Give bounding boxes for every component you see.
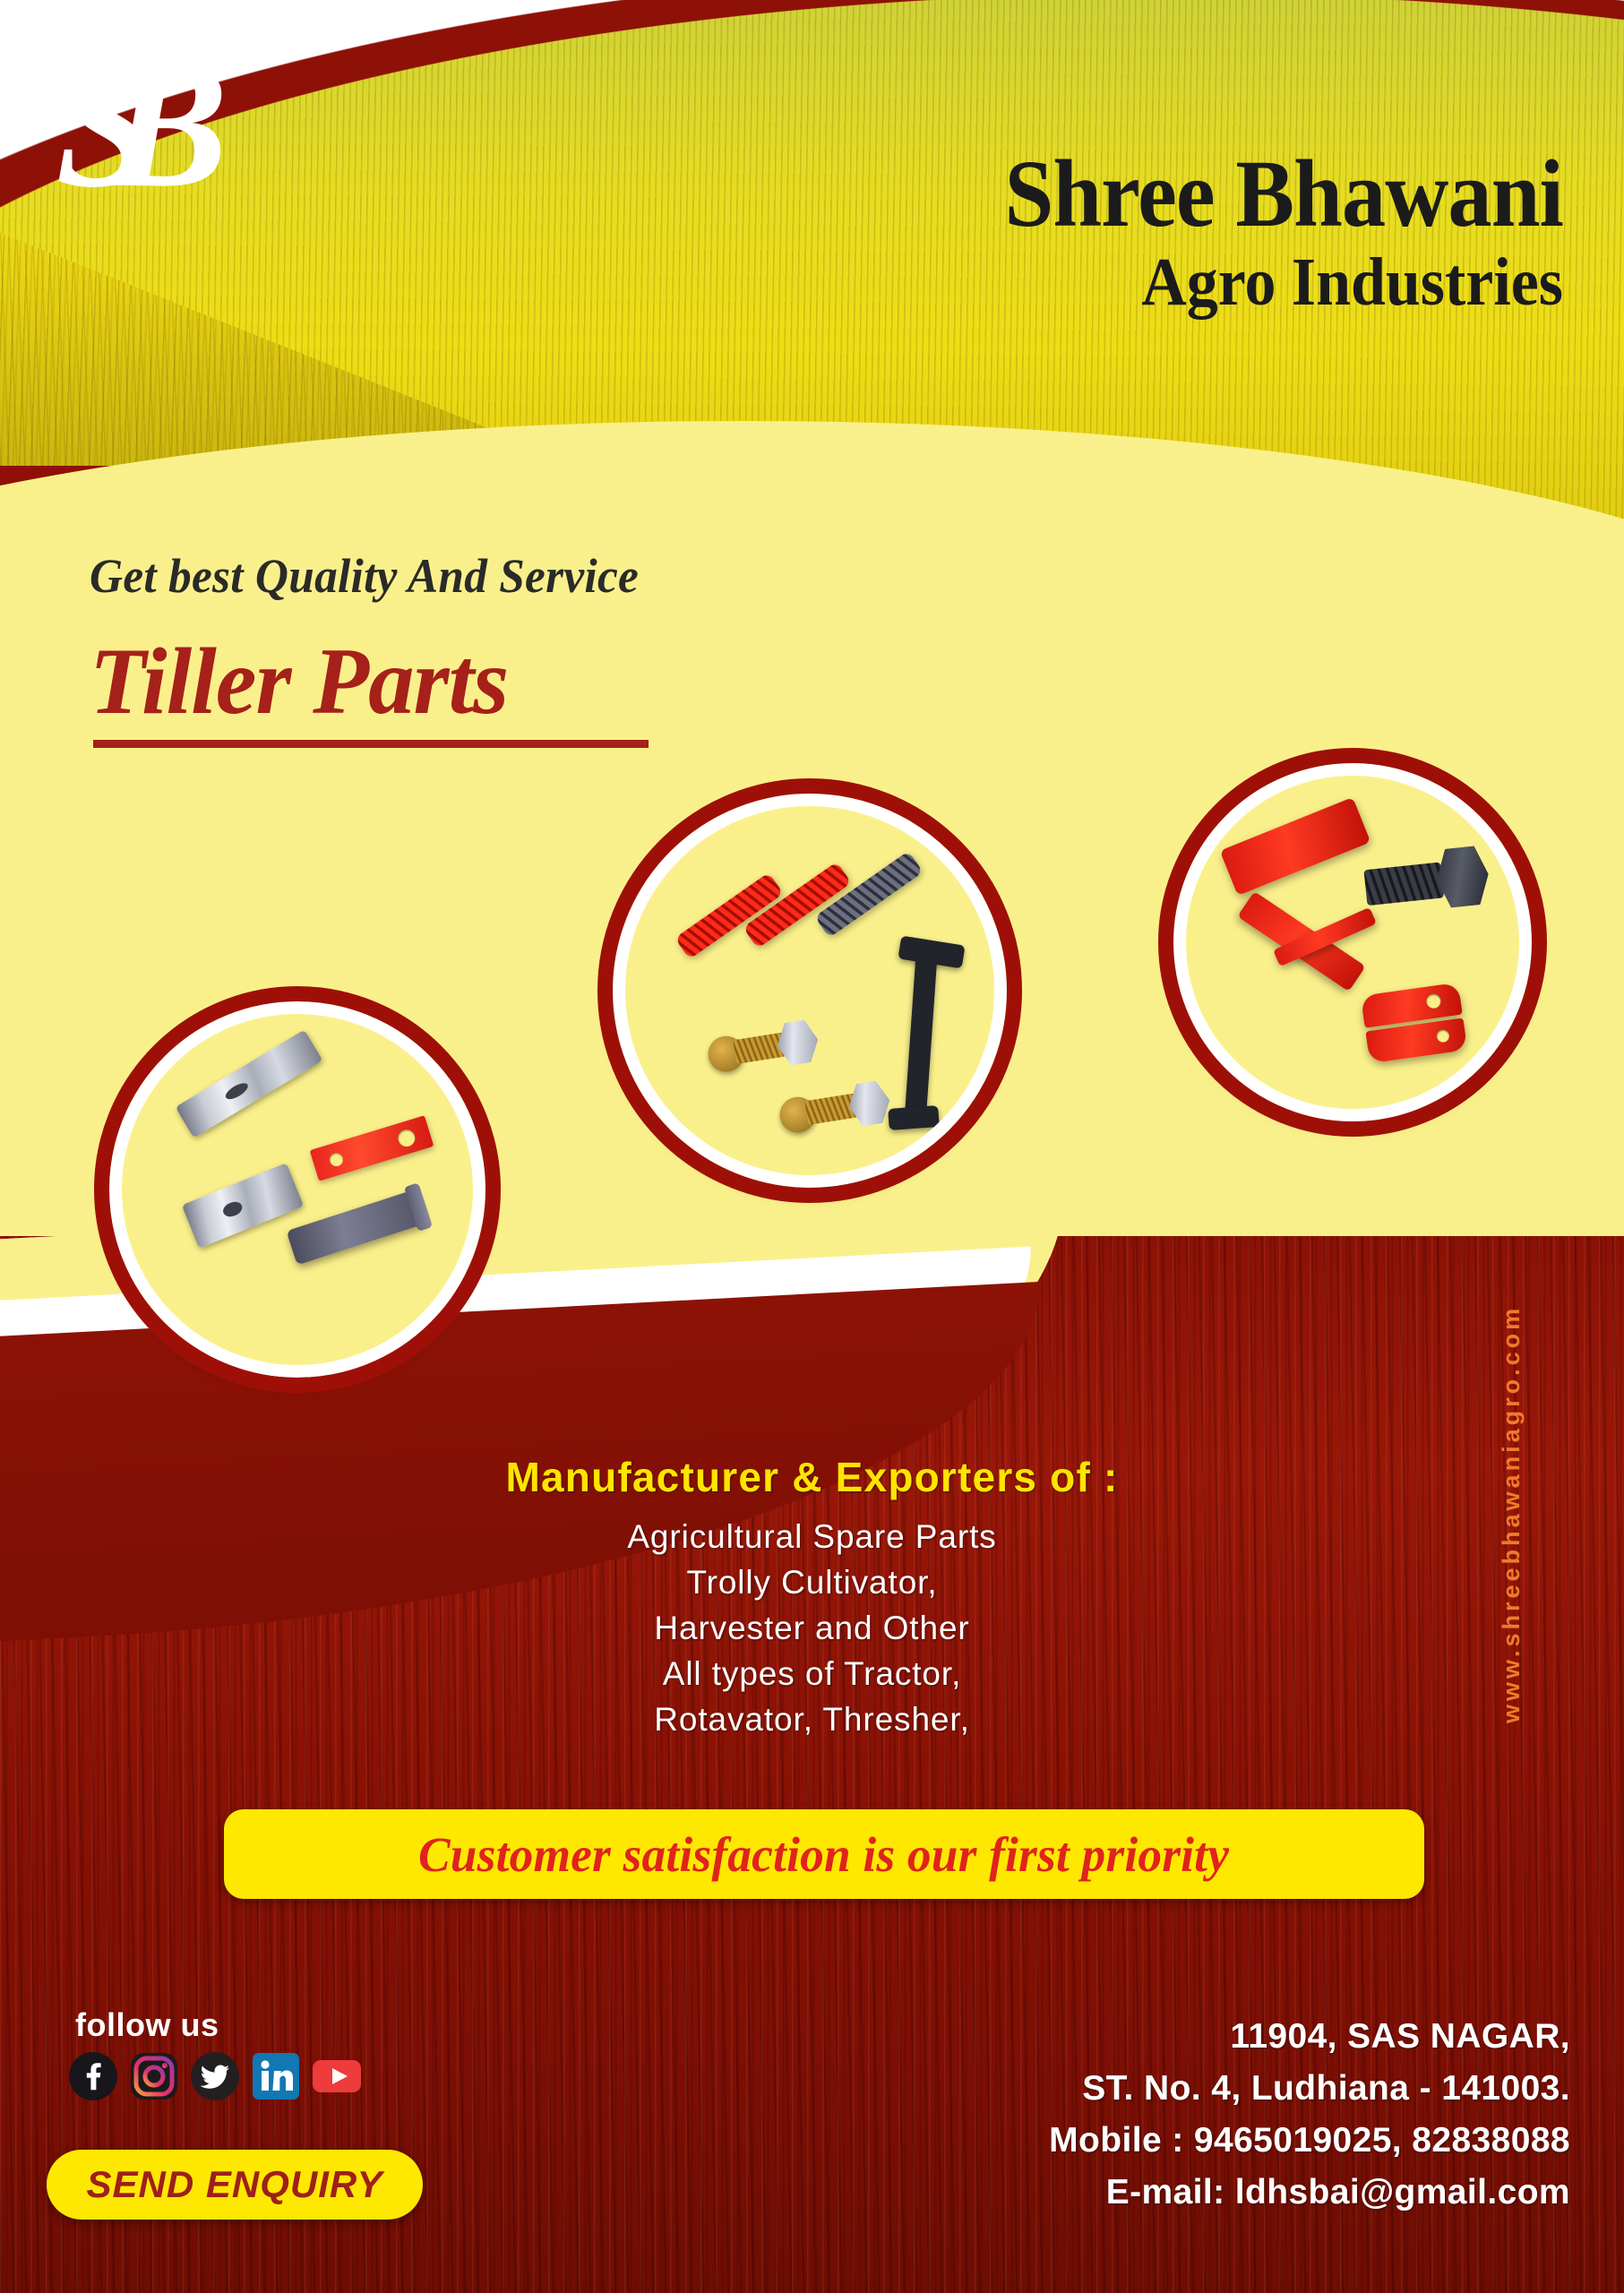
tagline-text: Customer satisfaction is our first prior… xyxy=(418,1826,1229,1883)
product-circle-3[interactable] xyxy=(1173,763,1532,1121)
send-enquiry-button[interactable]: SEND ENQUIRY xyxy=(47,2150,423,2220)
social-links xyxy=(68,2051,362,2101)
black-hex-bolt-icon xyxy=(1362,845,1493,916)
send-enquiry-label: SEND ENQUIRY xyxy=(87,2163,383,2206)
hex-bolt-icon-1 xyxy=(704,1014,823,1081)
brand-name-line2: Agro Industries xyxy=(125,241,1563,323)
tiller-pin-icon xyxy=(176,1030,323,1138)
address-line-2: ST. No. 4, Ludhiana - 141003. xyxy=(1049,2063,1570,2115)
linkedin-icon[interactable] xyxy=(251,2051,301,2101)
manufacturer-line: Rotavator, Thresher, xyxy=(0,1696,1624,1742)
flyer-page: SB Shree Bhawani Agro Industries Get bes… xyxy=(0,0,1624,2293)
email-address[interactable]: E-mail: ldhsbai@gmail.com xyxy=(1049,2167,1570,2219)
manufacturer-line: Trolly Cultivator, xyxy=(0,1559,1624,1605)
tagline-banner: Customer satisfaction is our first prior… xyxy=(224,1809,1424,1899)
instagram-icon[interactable] xyxy=(129,2051,179,2101)
brand-name-line1: Shree Bhawani xyxy=(125,148,1563,241)
manufacturer-line: All types of Tractor, xyxy=(0,1651,1624,1696)
follow-us-label: follow us xyxy=(75,2006,219,2044)
clevis-pin-icon xyxy=(287,1189,427,1265)
page-title: Tiller Parts xyxy=(90,627,508,736)
brand-title: Shree Bhawani Agro Industries xyxy=(0,148,1563,323)
hero-kicker: Get best Quality And Service xyxy=(90,548,639,604)
title-underline xyxy=(93,740,649,748)
twitter-icon[interactable] xyxy=(190,2051,240,2101)
tiller-bracket-icon xyxy=(1220,797,1371,896)
address-line-1: 11904, SAS NAGAR, xyxy=(1049,2011,1570,2063)
youtube-icon[interactable] xyxy=(312,2051,362,2101)
hook-bracket-icon xyxy=(1361,983,1468,1069)
red-link-bar-icon xyxy=(310,1115,434,1181)
website-url-vertical[interactable]: www.shreebhawaniagro.com xyxy=(1498,1236,1548,1791)
facebook-icon[interactable] xyxy=(68,2051,118,2101)
product-circle-1[interactable] xyxy=(109,1001,485,1378)
manufacturer-product-list: Agricultural Spare Parts Trolly Cultivat… xyxy=(0,1514,1624,1742)
manufacturer-heading: Manufacturer & Exporters of : xyxy=(0,1453,1624,1501)
tiller-bush-icon xyxy=(182,1163,304,1248)
manufacturer-line: Agricultural Spare Parts xyxy=(0,1514,1624,1559)
manufacturer-line: Harvester and Other xyxy=(0,1605,1624,1651)
mobile-numbers[interactable]: Mobile : 9465019025, 82838088 xyxy=(1049,2115,1570,2167)
contact-details: 11904, SAS NAGAR, ST. No. 4, Ludhiana - … xyxy=(1049,2011,1570,2219)
j-hook-icon xyxy=(874,940,964,1143)
product-circle-2[interactable] xyxy=(613,794,1007,1188)
